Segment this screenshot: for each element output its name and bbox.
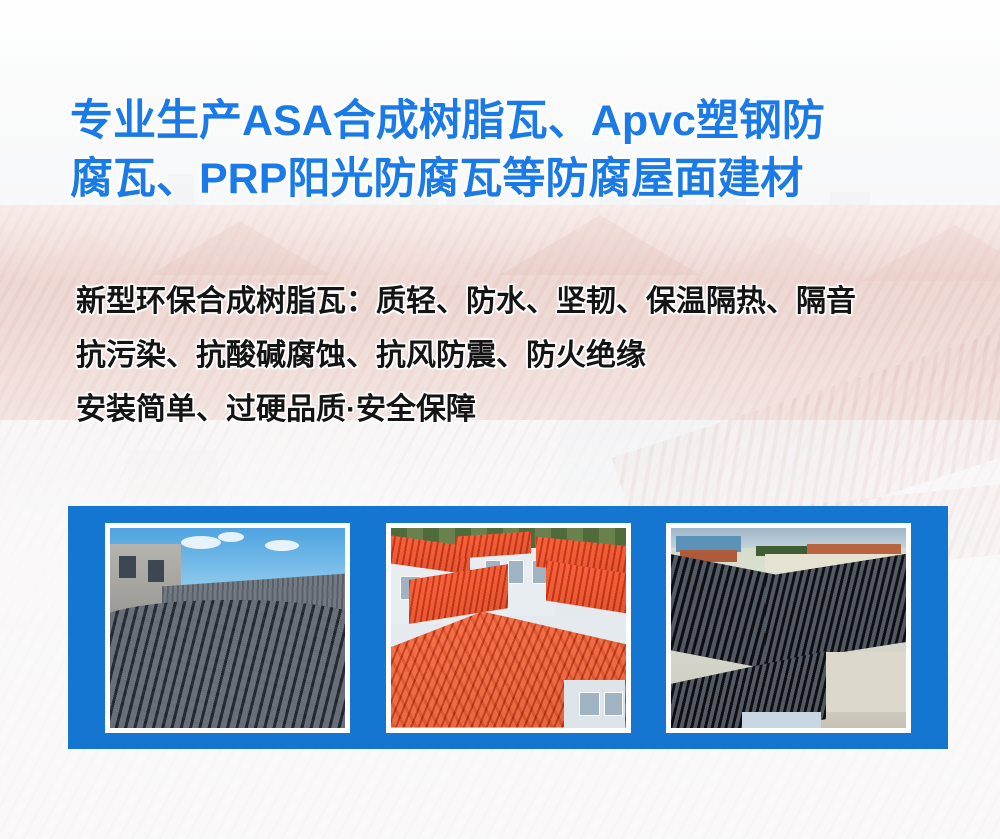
feature-line-1: 新型环保合成树脂瓦：质轻、防水、坚韧、保温隔热、隔音 — [76, 275, 966, 329]
feature-list: 新型环保合成树脂瓦：质轻、防水、坚韧、保温隔热、隔音 抗污染、抗酸碱腐蚀、抗风防… — [76, 275, 966, 437]
gallery-photo-black-roof[interactable] — [666, 523, 911, 733]
grey-roof-image — [110, 528, 345, 728]
feature-line-2: 抗污染、抗酸碱腐蚀、抗风防震、防火绝缘 — [76, 329, 966, 383]
feature-line-3: 安装简单、过硬品质·安全保障 — [76, 383, 966, 437]
black-roof-image — [671, 528, 906, 728]
gallery-photo-red-roof[interactable] — [386, 523, 631, 733]
product-banner: 专业生产ASA合成树脂瓦、Apvc塑钢防 腐瓦、PRP阳光防腐瓦等防腐屋面建材 … — [0, 0, 1000, 839]
page-title: 专业生产ASA合成树脂瓦、Apvc塑钢防 腐瓦、PRP阳光防腐瓦等防腐屋面建材 — [70, 92, 950, 208]
red-roof-image — [391, 528, 626, 728]
photo-gallery-panel — [68, 506, 948, 749]
gallery-photo-grey-roof[interactable] — [105, 523, 350, 733]
